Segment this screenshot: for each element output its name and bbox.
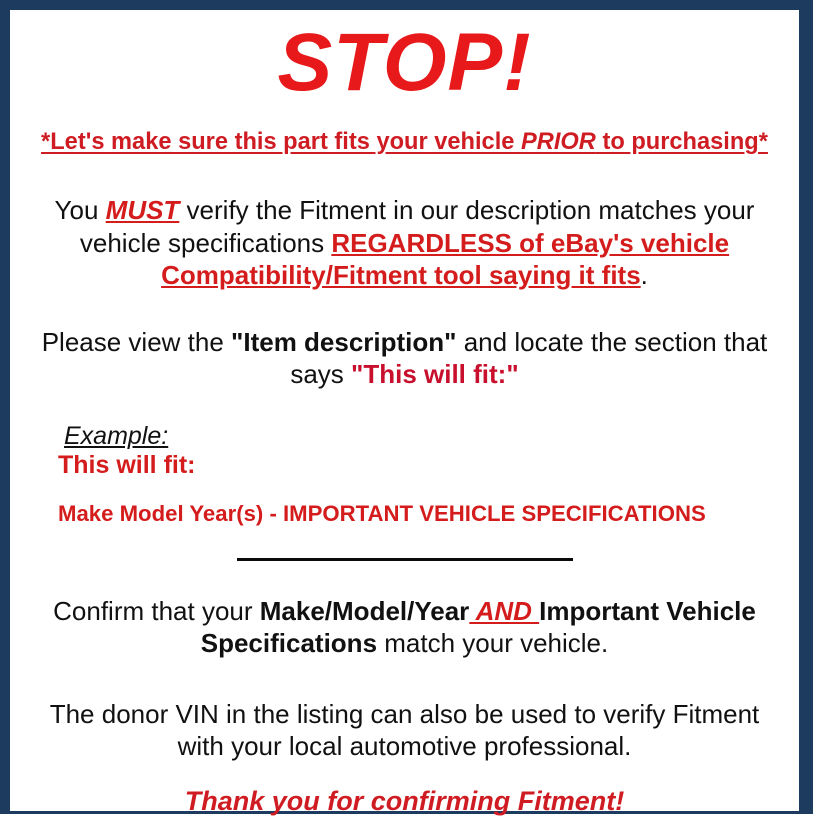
p2-emphasis-item-description: "Item description" bbox=[231, 327, 456, 357]
subtitle-after: to purchasing* bbox=[596, 128, 768, 155]
p3-tail: match your vehicle. bbox=[377, 628, 608, 658]
section-divider bbox=[237, 558, 573, 561]
notice-content: STOP! *Let's make sure this part fits yo… bbox=[10, 22, 799, 811]
example-section: Example: This will fit: Make Model Year(… bbox=[26, 423, 783, 527]
p3-emphasis-make-model-year: Make/Model/Year bbox=[260, 596, 470, 626]
subtitle-before: *Let's make sure this part fits your veh… bbox=[41, 128, 521, 155]
paragraph-confirm-match: Confirm that your Make/Model/Year AND Im… bbox=[26, 595, 783, 660]
example-spec-line: Make Model Year(s) - IMPORTANT VEHICLE S… bbox=[58, 502, 772, 527]
p1-tail: . bbox=[641, 260, 648, 290]
p4-line-1: The donor VIN in the listing can also be… bbox=[50, 699, 760, 729]
paragraph-donor-vin: The donor VIN in the listing can also be… bbox=[26, 698, 783, 763]
p3-lead: Confirm that your bbox=[53, 596, 260, 626]
p2-emphasis-this-will-fit: "This will fit:" bbox=[351, 359, 519, 389]
example-label-row: Example: bbox=[58, 423, 783, 451]
paragraph-item-description: Please view the "Item description" and l… bbox=[26, 326, 783, 391]
p1-lead: You bbox=[55, 195, 106, 225]
example-label: Example: bbox=[64, 423, 168, 451]
p4-line-2: with your local automotive professional. bbox=[178, 731, 632, 761]
stop-title: STOP! bbox=[26, 22, 783, 104]
fitment-notice-card: STOP! *Let's make sure this part fits yo… bbox=[0, 0, 813, 814]
example-fit-heading: This will fit: bbox=[58, 451, 783, 480]
p2-lead: Please view the bbox=[42, 327, 231, 357]
p3-emphasis-and: AND bbox=[469, 596, 539, 626]
divider-wrap bbox=[26, 553, 783, 567]
p1-emphasis-must: MUST bbox=[106, 195, 180, 225]
paragraph-must-verify: You MUST verify the Fitment in our descr… bbox=[26, 194, 783, 292]
subtitle-emphasis-prior: PRIOR bbox=[521, 128, 596, 155]
subtitle-line: *Let's make sure this part fits your veh… bbox=[39, 128, 770, 156]
closing-thank-you: Thank you for confirming Fitment! bbox=[26, 785, 783, 817]
